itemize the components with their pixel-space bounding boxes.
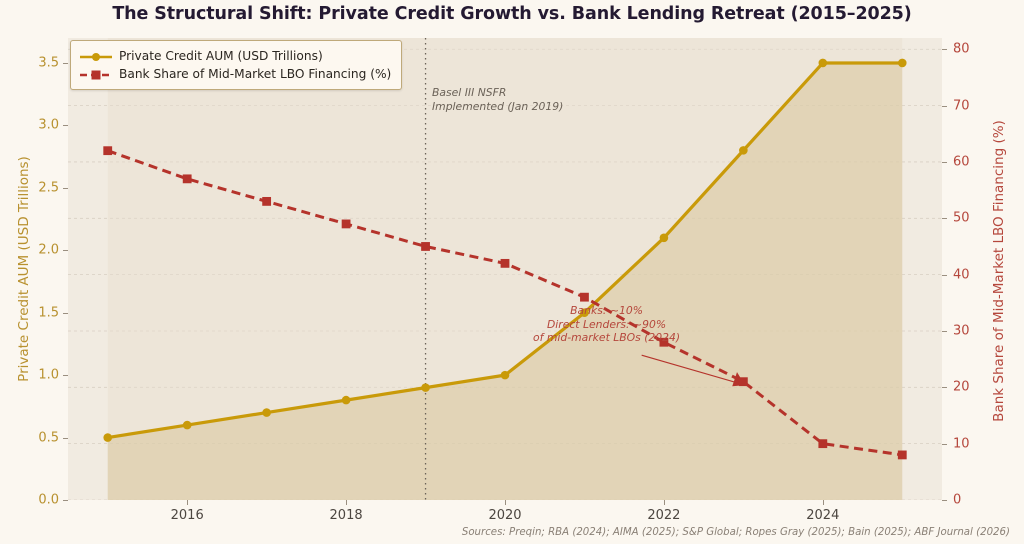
y-tick-left-label: 3.5 [38, 55, 59, 70]
x-tick-mark [187, 500, 188, 505]
x-tick-label: 2018 [330, 508, 363, 523]
y-tick-right-label: 60 [953, 154, 970, 169]
x-tick-mark [823, 500, 824, 505]
y-tick-left-mark [63, 313, 68, 314]
sources-note: Sources: Preqin; RBA (2024); AIMA (2025)… [462, 527, 1010, 538]
chart-root: The Structural Shift: Private Credit Gro… [0, 0, 1024, 544]
y-tick-right-mark [942, 331, 947, 332]
y-tick-right-label: 40 [953, 267, 970, 282]
annotation-shift-line1: Banks: ~10% [533, 304, 680, 318]
annotation-market-shift: Banks: ~10% Direct Lenders: ~90% of mid-… [533, 304, 680, 345]
x-tick-label: 2020 [488, 508, 521, 523]
y-tick-right-mark [942, 218, 947, 219]
y-tick-right-mark [942, 500, 947, 501]
y-tick-left-label: 1.5 [38, 305, 59, 320]
annotation-basel-line2: Implemented (Jan 2019) [432, 100, 563, 114]
x-tick-mark [505, 500, 506, 505]
legend-key-line-solid-circle [79, 49, 113, 63]
y-tick-left-label: 3.0 [38, 118, 59, 133]
legend-label-bank-share: Bank Share of Mid-Market LBO Financing (… [119, 67, 391, 81]
y-tick-left-mark [63, 250, 68, 251]
y-tick-right-mark [942, 275, 947, 276]
y-tick-right-label: 30 [953, 323, 970, 338]
y-tick-right-label: 70 [953, 98, 970, 113]
y-tick-left-mark [63, 63, 68, 64]
y-tick-right-mark [942, 162, 947, 163]
x-tick-label: 2016 [171, 508, 204, 523]
x-tick-label: 2022 [647, 508, 680, 523]
legend-swatch-aum [79, 50, 113, 64]
legend-item-bank-share[interactable]: Bank Share of Mid-Market LBO Financing (… [79, 65, 391, 83]
legend-item-private-credit[interactable]: Private Credit AUM (USD Trillions) [79, 47, 391, 65]
x-tick-label: 2024 [806, 508, 839, 523]
y-tick-left-label: 0.0 [38, 493, 59, 508]
y-tick-right-label: 20 [953, 380, 970, 395]
y-tick-right-label: 0 [953, 493, 961, 508]
y-tick-left-label: 2.0 [38, 243, 59, 258]
y-axis-left-label: Private Credit AUM (USD Trillions) [13, 38, 35, 500]
x-tick-mark [346, 500, 347, 505]
chart-legend[interactable]: Private Credit AUM (USD Trillions) Bank … [70, 40, 402, 90]
y-tick-right-label: 50 [953, 211, 970, 226]
y-tick-left-label: 2.5 [38, 180, 59, 195]
y-tick-left-mark [63, 125, 68, 126]
x-tick-mark [664, 500, 665, 505]
annotation-basel-line1: Basel III NSFR [432, 86, 563, 100]
annotation-basel-iii: Basel III NSFR Implemented (Jan 2019) [432, 86, 563, 113]
annotation-shift-line2: Direct Lenders: ~90% [533, 318, 680, 332]
legend-label-private-credit: Private Credit AUM (USD Trillions) [119, 49, 323, 63]
legend-key-line-dashed-square [79, 67, 113, 81]
y-axis-right-label: Bank Share of Mid-Market LBO Financing (… [988, 36, 1010, 506]
y-tick-right-mark [942, 106, 947, 107]
y-tick-right-mark [942, 387, 947, 388]
y-tick-right-label: 10 [953, 436, 970, 451]
legend-swatch-bank-share [79, 68, 113, 82]
y-tick-left-label: 0.5 [38, 430, 59, 445]
y-tick-left-label: 1.0 [38, 368, 59, 383]
chart-title: The Structural Shift: Private Credit Gro… [0, 4, 1024, 24]
y-tick-left-mark [63, 188, 68, 189]
annotation-shift-line3: of mid-market LBOs (2024) [533, 331, 680, 345]
y-tick-left-mark [63, 375, 68, 376]
y-tick-right-label: 80 [953, 42, 970, 57]
y-tick-right-mark [942, 49, 947, 50]
y-tick-left-mark [63, 500, 68, 501]
y-tick-right-mark [942, 444, 947, 445]
y-tick-left-mark [63, 438, 68, 439]
